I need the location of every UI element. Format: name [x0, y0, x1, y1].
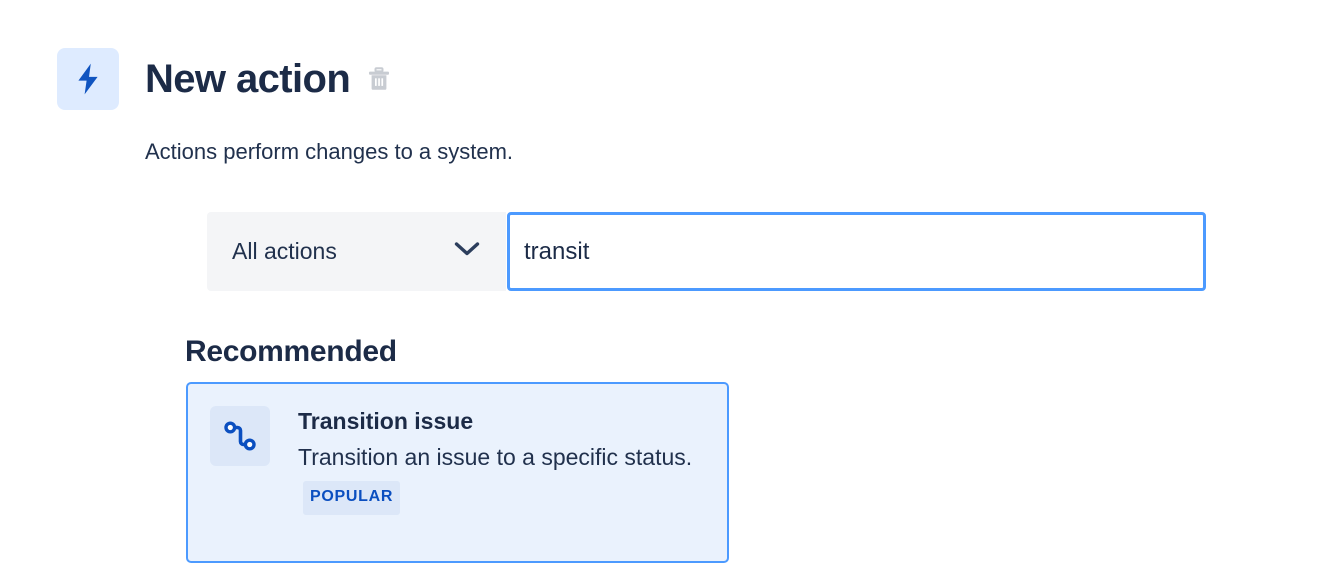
- trash-icon[interactable]: [366, 66, 392, 92]
- popular-badge: POPULAR: [303, 481, 400, 515]
- recommended-heading: Recommended: [185, 334, 397, 370]
- search-input[interactable]: [524, 238, 1189, 266]
- result-description-row: Transition an issue to a specific status…: [298, 438, 707, 516]
- title-group: New action: [145, 59, 392, 99]
- result-icon-tile: [210, 406, 270, 466]
- action-result-card-transition-issue[interactable]: Transition issue Transition an issue to …: [186, 382, 729, 563]
- result-text-block: Transition issue Transition an issue to …: [298, 406, 707, 515]
- page-title: New action: [145, 59, 350, 99]
- action-search-row: All actions: [207, 212, 1206, 291]
- action-header: New action: [57, 48, 392, 110]
- result-title: Transition issue: [298, 407, 707, 436]
- action-type-badge: [57, 48, 119, 110]
- action-search-field[interactable]: [507, 212, 1206, 291]
- action-filter-dropdown[interactable]: All actions: [207, 212, 506, 291]
- lightning-bolt-icon: [75, 63, 101, 95]
- chevron-down-icon: [454, 241, 480, 262]
- transition-path-icon: [223, 419, 257, 453]
- result-description: Transition an issue to a specific status…: [298, 444, 692, 470]
- action-description: Actions perform changes to a system.: [145, 138, 513, 167]
- action-filter-label: All actions: [232, 238, 337, 265]
